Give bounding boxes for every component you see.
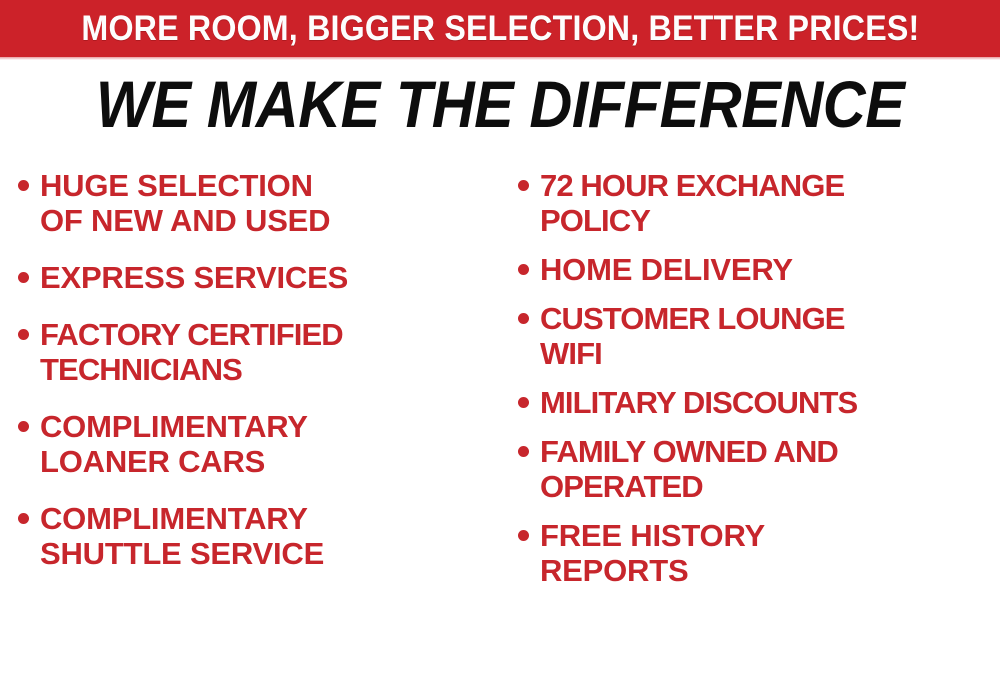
feature-item-label: FACTORY CERTIFIED TECHNICIANS — [40, 317, 343, 387]
feature-item: FAMILY OWNED AND OPERATED — [518, 434, 1000, 504]
bullet-dot-icon — [518, 313, 529, 324]
feature-item: FACTORY CERTIFIED TECHNICIANS — [18, 317, 500, 387]
bullet-dot-icon — [18, 329, 29, 340]
feature-item-label: MILITARY DISCOUNTS — [540, 385, 857, 420]
feature-item: HOME DELIVERY — [518, 252, 1000, 287]
bullet-dot-icon — [18, 513, 29, 524]
bullet-dot-icon — [518, 397, 529, 408]
bullet-dot-icon — [518, 530, 529, 541]
feature-item: COMPLIMENTARY LOANER CARS — [18, 409, 500, 479]
feature-item: COMPLIMENTARY SHUTTLE SERVICE — [18, 501, 500, 571]
feature-item: CUSTOMER LOUNGE WIFI — [518, 301, 1000, 371]
advertisement-banner: MORE ROOM, BIGGER SELECTION, BETTER PRIC… — [0, 0, 1000, 694]
feature-item: EXPRESS SERVICES — [18, 260, 500, 295]
feature-item-label: HOME DELIVERY — [540, 252, 793, 287]
feature-item-label: 72 HOUR EXCHANGE POLICY — [540, 168, 844, 238]
feature-item-label: EXPRESS SERVICES — [40, 260, 348, 295]
feature-item-label: HUGE SELECTION OF NEW AND USED — [40, 168, 330, 238]
bullet-dot-icon — [518, 180, 529, 191]
feature-item-label: COMPLIMENTARY SHUTTLE SERVICE — [40, 501, 324, 571]
feature-item-label: FAMILY OWNED AND OPERATED — [540, 434, 838, 504]
headline-text: WE MAKE THE DIFFERENCE — [96, 70, 905, 138]
headline: WE MAKE THE DIFFERENCE — [0, 68, 1000, 140]
bullet-dot-icon — [18, 421, 29, 432]
feature-item-label: COMPLIMENTARY LOANER CARS — [40, 409, 308, 479]
promo-banner: MORE ROOM, BIGGER SELECTION, BETTER PRIC… — [0, 0, 1000, 57]
feature-item: HUGE SELECTION OF NEW AND USED — [18, 168, 500, 238]
promo-banner-text: MORE ROOM, BIGGER SELECTION, BETTER PRIC… — [81, 11, 919, 47]
feature-columns: HUGE SELECTION OF NEW AND USED EXPRESS S… — [0, 152, 1000, 694]
feature-column-right: 72 HOUR EXCHANGE POLICY HOME DELIVERY CU… — [500, 152, 1000, 694]
bullet-dot-icon — [18, 180, 29, 191]
bullet-dot-icon — [518, 446, 529, 457]
feature-item-label: CUSTOMER LOUNGE WIFI — [540, 301, 845, 371]
feature-item: 72 HOUR EXCHANGE POLICY — [518, 168, 1000, 238]
feature-item: MILITARY DISCOUNTS — [518, 385, 1000, 420]
banner-edge-divider — [0, 57, 1000, 60]
feature-item-label: FREE HISTORY REPORTS — [540, 518, 765, 588]
feature-column-left: HUGE SELECTION OF NEW AND USED EXPRESS S… — [0, 152, 500, 694]
bullet-dot-icon — [518, 264, 529, 275]
feature-item: FREE HISTORY REPORTS — [518, 518, 1000, 588]
bullet-dot-icon — [18, 272, 29, 283]
